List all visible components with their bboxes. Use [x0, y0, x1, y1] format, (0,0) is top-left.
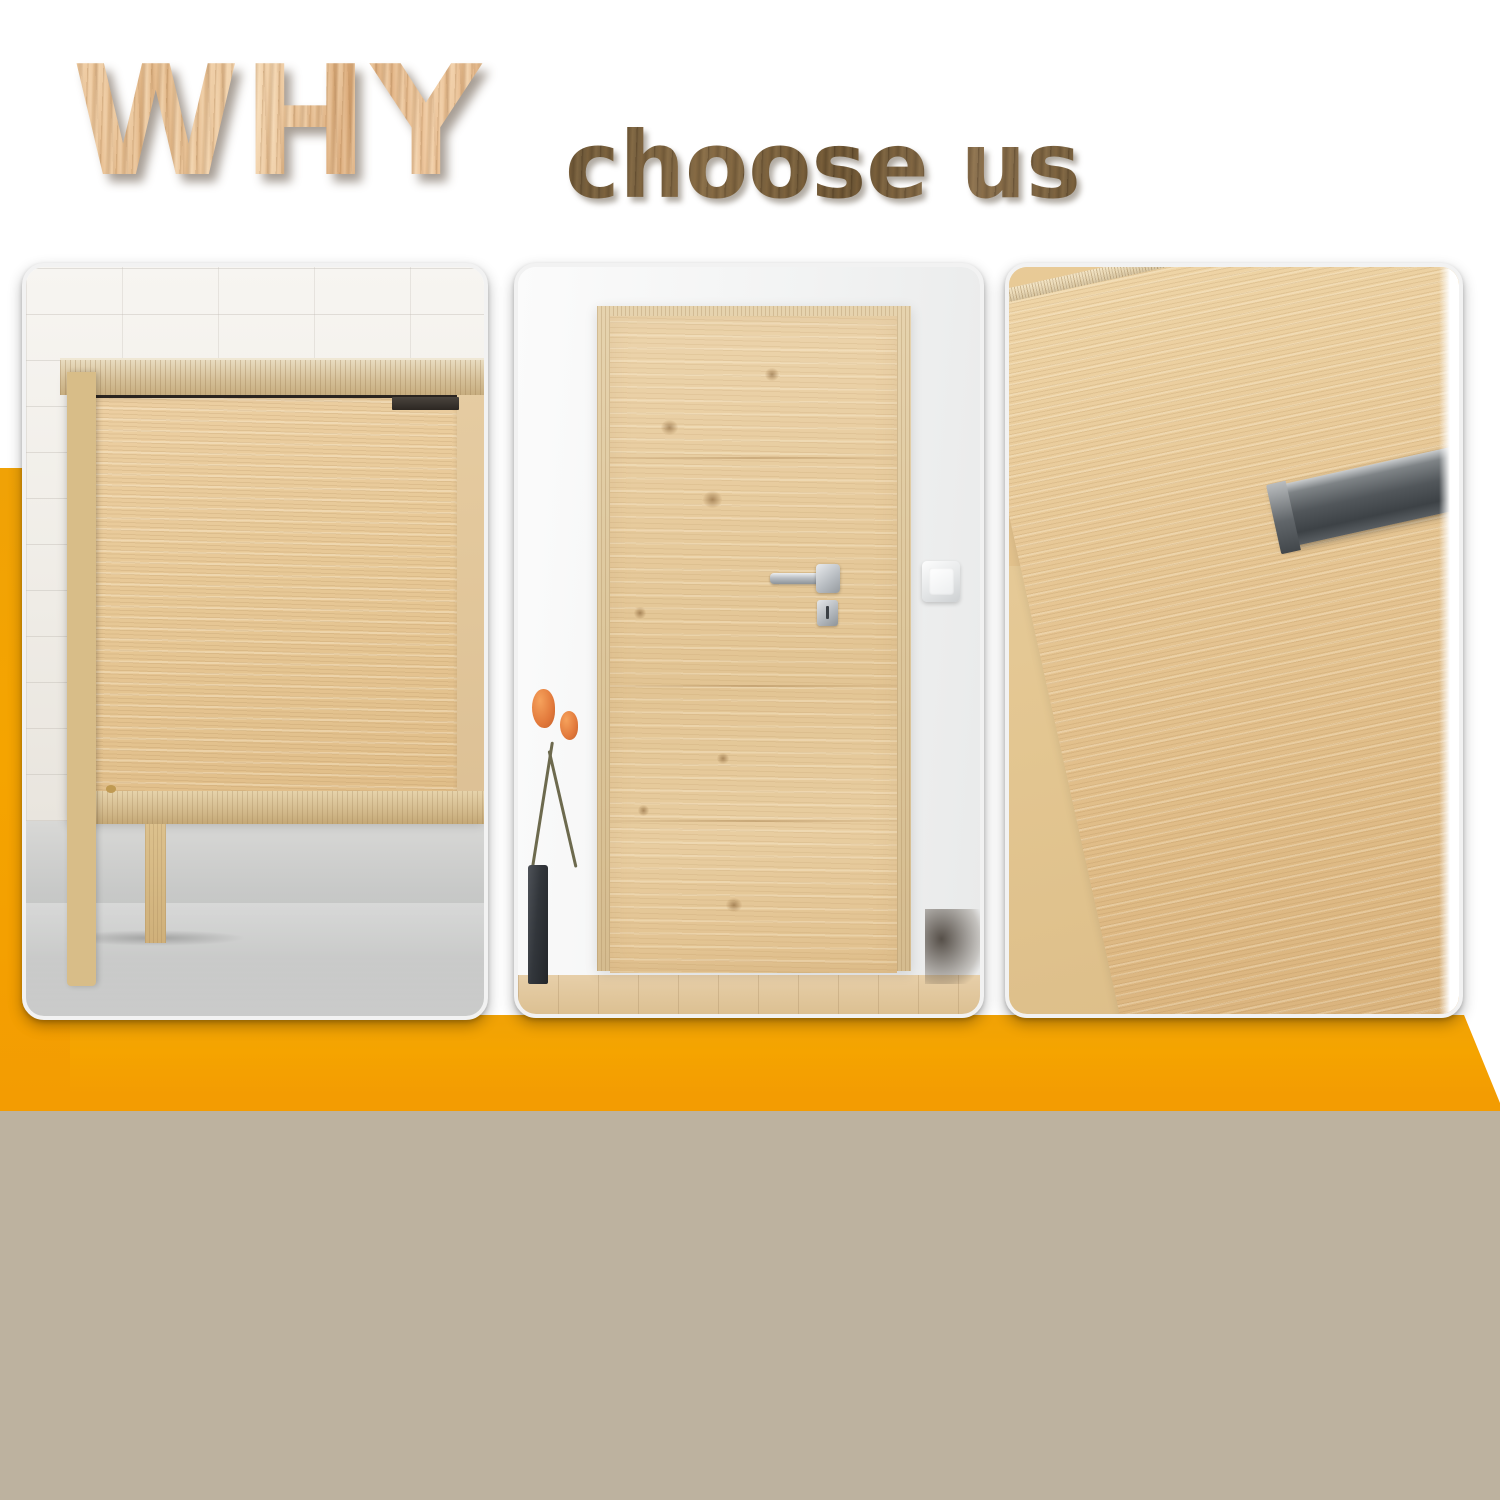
feature-checklist: HIGH QUALITY MATERIAL NATURE OAK WOOD WI…: [0, 1111, 1500, 1500]
cabinet-bottom-rail: [67, 791, 484, 823]
wood-knot: [634, 607, 646, 619]
promo-banner: WHY choose us: [0, 0, 1500, 1500]
door-handle-rose: [816, 564, 840, 594]
wood-knot: [703, 491, 722, 507]
gallery-card-cabinet[interactable]: [22, 263, 488, 1020]
vase: [528, 865, 548, 985]
cabinet-photo: [26, 267, 484, 1016]
cabinet-knob: [106, 785, 116, 792]
floor-object-shadow: [925, 909, 980, 984]
cabinet-door-panel: [95, 397, 457, 794]
wood-knot: [661, 420, 678, 435]
cabinet-leg-right: [145, 824, 166, 944]
dried-flower-pod: [532, 689, 555, 728]
door-photo: [518, 267, 980, 1014]
wood-knot: [726, 898, 742, 912]
oak-door-leaf: [610, 316, 896, 973]
photo-gallery: [0, 0, 1500, 1070]
drawer-edge-photo: [1009, 267, 1459, 1014]
cabinet-handle: [392, 397, 458, 410]
dried-flower-pod: [560, 711, 578, 739]
door-lock-escutcheon: [817, 600, 837, 625]
door-grain-seam: [610, 457, 896, 459]
cabinet-top-edge: [60, 358, 484, 394]
door-grain-seam: [610, 820, 896, 822]
light-switch: [922, 561, 960, 601]
wood-floor: [518, 975, 980, 1014]
door-lever-handle: [770, 573, 821, 584]
photo-edge-highlight: [1439, 267, 1459, 1014]
wood-knot: [717, 753, 729, 765]
gallery-card-door[interactable]: [514, 263, 984, 1018]
cabinet-leg-left: [67, 372, 96, 986]
door-grain-seam: [610, 685, 896, 687]
gallery-card-drawer-edge[interactable]: [1005, 263, 1463, 1018]
